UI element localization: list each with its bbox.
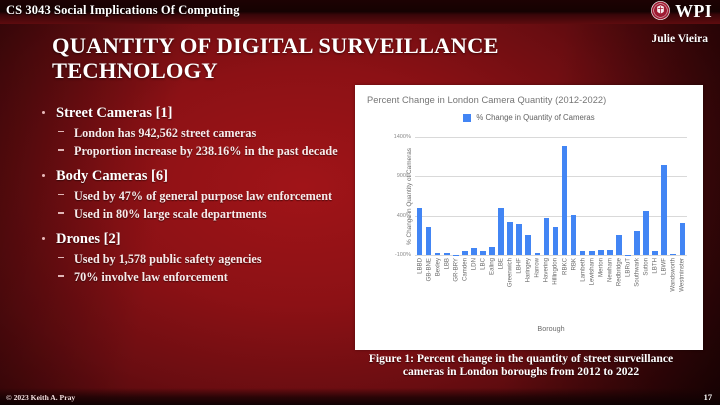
bar	[462, 251, 468, 255]
x-axis-tick-label: LDN	[470, 258, 477, 270]
bullet-section-heading: Body Cameras [6]	[36, 168, 356, 185]
x-axis-tick-label: RBK	[570, 258, 577, 271]
bar	[516, 224, 522, 255]
x-label-slot: Camden	[460, 257, 469, 323]
x-label-slot: RBKC	[560, 257, 569, 323]
chart-legend: % Change in Quantity of Cameras	[355, 113, 703, 122]
x-axis-tick-label: LBBD	[416, 258, 423, 274]
plot-area: -100%400%900%1400%	[415, 137, 687, 255]
y-axis-tick-label: 900%	[397, 173, 411, 179]
bullet-heading-text: Body Cameras [6]	[56, 168, 168, 184]
x-axis-tick-label: Lewisham	[588, 258, 595, 285]
x-axis-tick-labels: LBBDGB-BNEBexleyLBBGR-BRYCamdenLDNLBCEal…	[415, 257, 687, 323]
x-label-slot: GR-BRY	[451, 257, 460, 323]
bar	[444, 253, 450, 255]
page-number: 17	[704, 393, 712, 402]
bullet-dash-icon	[58, 194, 64, 196]
x-axis-tick-label: RBKC	[561, 258, 568, 275]
x-label-slot: LBTH	[651, 257, 660, 323]
x-axis-tick-label: Greenwich	[507, 258, 514, 287]
bar	[589, 251, 595, 255]
bar-slot	[424, 137, 433, 255]
bar-slot	[478, 137, 487, 255]
x-label-slot: Greenwich	[506, 257, 515, 323]
bar	[571, 215, 577, 255]
x-label-slot: Havering	[542, 257, 551, 323]
y-axis-tick-label: 400%	[397, 213, 411, 219]
bar-slot	[469, 137, 478, 255]
bar	[670, 254, 676, 255]
bar	[607, 250, 613, 255]
x-axis-tick-label: GB-BNE	[425, 258, 432, 281]
wpi-wordmark: WPI	[675, 2, 712, 20]
bar	[643, 211, 649, 255]
x-axis-tick-label: LBWF	[661, 258, 668, 275]
bar-slot	[660, 137, 669, 255]
bullet-sub-item: Used by 47% of general purpose law enfor…	[36, 190, 356, 204]
wpi-logo: WPI	[651, 1, 712, 20]
bullet-sub-text: Used in 80% large scale departments	[74, 207, 267, 221]
bar-slot	[623, 137, 632, 255]
y-axis-tick-label: 1400%	[394, 134, 411, 140]
bar	[480, 251, 486, 255]
bullet-sub-item: Used in 80% large scale departments	[36, 208, 356, 222]
x-axis-tick-label: Westminster	[679, 258, 686, 292]
x-label-slot: Bexley	[433, 257, 442, 323]
bullet-dash-icon	[58, 212, 64, 214]
bar-slot	[533, 137, 542, 255]
bullet-section-heading: Street Cameras [1]	[36, 105, 356, 122]
x-axis-tick-label: LBTH	[652, 258, 659, 274]
bar-slot	[633, 137, 642, 255]
bullet-section-heading: Drones [2]	[36, 231, 356, 248]
bullet-dot-icon	[42, 237, 45, 240]
x-axis-tick-label: Redbridge	[615, 258, 622, 286]
bullet-dash-icon	[58, 149, 64, 151]
x-axis-tick-label: Newham	[606, 258, 613, 282]
bar-slot	[451, 137, 460, 255]
x-axis-title: Borough	[415, 324, 687, 333]
bar-slot	[587, 137, 596, 255]
bullet-sub-item: Used by 1,578 public safety agencies	[36, 253, 356, 267]
x-axis-tick-label: Hillingdon	[552, 258, 559, 285]
bar-slot	[642, 137, 651, 255]
x-axis-tick-label: LBHF	[516, 258, 523, 274]
bar	[489, 247, 495, 255]
bullet-content: Street Cameras [1] London has 942,562 st…	[36, 105, 356, 285]
x-axis-tick-label: Bexley	[434, 258, 441, 276]
x-label-slot: Redbridge	[614, 257, 623, 323]
bar	[507, 222, 513, 255]
x-axis-tick-label: Southwark	[634, 258, 641, 287]
x-label-slot: LBE	[497, 257, 506, 323]
bar-slot	[506, 137, 515, 255]
x-axis-tick-label: GR-BRY	[452, 258, 459, 282]
x-axis-tick-label: Camden	[461, 258, 468, 281]
bar-series	[415, 137, 687, 255]
bar	[453, 255, 459, 256]
bar	[580, 251, 586, 255]
bar	[634, 231, 640, 255]
bullet-heading-text: Drones [2]	[56, 231, 121, 247]
bar	[652, 251, 658, 255]
bar-slot	[551, 137, 560, 255]
x-axis-tick-label: Lambeth	[579, 258, 586, 282]
course-title: CS 3043 Social Implications Of Computing	[6, 3, 240, 18]
bullet-heading-text: Street Cameras [1]	[56, 105, 173, 121]
slide-canvas: CS 3043 Social Implications Of Computing…	[0, 0, 720, 405]
bar-slot	[596, 137, 605, 255]
x-label-slot: LBWF	[660, 257, 669, 323]
x-label-slot: Westminster	[678, 257, 687, 323]
x-label-slot: LBHF	[515, 257, 524, 323]
bar	[616, 235, 622, 255]
bar-slot	[569, 137, 578, 255]
x-label-slot: Haringey	[524, 257, 533, 323]
copyright-text: © 2023 Keith A. Pray	[6, 393, 75, 402]
bar	[661, 165, 667, 255]
x-label-slot: GB-BNE	[424, 257, 433, 323]
x-label-slot: Merton	[596, 257, 605, 323]
bar	[625, 255, 631, 256]
x-axis-tick-label: Ealing	[489, 258, 496, 275]
bar	[471, 248, 477, 255]
bar-slot	[651, 137, 660, 255]
bar	[544, 218, 550, 255]
bullet-dash-icon	[58, 275, 64, 277]
bullet-dash-icon	[58, 257, 64, 259]
bar-slot	[442, 137, 451, 255]
bar-slot	[560, 137, 569, 255]
bullet-sub-text: Used by 47% of general purpose law enfor…	[74, 189, 332, 203]
bar	[426, 227, 432, 255]
chart-figure: Percent Change in London Camera Quantity…	[355, 85, 703, 350]
x-axis-tick-label: Haringey	[525, 258, 532, 282]
bullet-sub-text: London has 942,562 street cameras	[74, 126, 256, 140]
bar	[435, 253, 441, 255]
legend-swatch-icon	[463, 114, 471, 122]
x-axis-tick-label: Merton	[597, 258, 604, 277]
bullet-sub-text: Proportion increase by 238.16% in the pa…	[74, 144, 338, 158]
bar-slot	[578, 137, 587, 255]
bar-slot	[415, 137, 424, 255]
bullet-sub-item: 70% involve law enforcement	[36, 271, 356, 285]
bar	[562, 146, 568, 255]
bar	[598, 250, 604, 255]
x-axis-tick-label: LBC	[479, 258, 486, 270]
bar-slot	[542, 137, 551, 255]
bar-slot	[524, 137, 533, 255]
x-label-slot: Hillingdon	[551, 257, 560, 323]
bar-slot	[515, 137, 524, 255]
bar	[535, 253, 541, 255]
author-name: Julie Vieira	[651, 33, 708, 45]
bullet-dot-icon	[42, 174, 45, 177]
bar	[553, 227, 559, 255]
x-label-slot: Lewisham	[587, 257, 596, 323]
y-axis-tick-label: -100%	[395, 252, 411, 258]
x-label-slot: LBB	[442, 257, 451, 323]
bar-slot	[497, 137, 506, 255]
bar-slot	[614, 137, 623, 255]
chart-title: Percent Change in London Camera Quantity…	[367, 95, 606, 105]
bar-slot	[433, 137, 442, 255]
legend-label: % Change in Quantity of Cameras	[476, 113, 594, 122]
x-axis-tick-label: LBE	[498, 258, 505, 270]
bullet-sub-text: 70% involve law enforcement	[74, 270, 228, 284]
bullet-sub-item: Proportion increase by 238.16% in the pa…	[36, 145, 356, 159]
bar-slot	[488, 137, 497, 255]
bar-slot	[678, 137, 687, 255]
x-label-slot: Southwark	[633, 257, 642, 323]
x-label-slot: LBBD	[415, 257, 424, 323]
top-banner: CS 3043 Social Implications Of Computing	[0, 0, 720, 24]
wpi-seal-icon	[651, 1, 670, 20]
footer-bar	[0, 388, 720, 405]
bullet-sub-text: Used by 1,578 public safety agencies	[74, 252, 262, 266]
x-label-slot: Harrow	[533, 257, 542, 323]
bullet-dot-icon	[42, 111, 45, 114]
page-title: QUANTITY OF DIGITAL SURVEILLANCE TECHNOL…	[52, 34, 612, 84]
x-axis-tick-label: LBB	[443, 258, 450, 270]
bar-slot	[669, 137, 678, 255]
x-axis-tick-label: Harrow	[534, 258, 541, 278]
x-label-slot: RBK	[569, 257, 578, 323]
bar-slot	[460, 137, 469, 255]
x-axis-tick-label: Sutton	[643, 258, 650, 276]
x-label-slot: Ealing	[488, 257, 497, 323]
bullet-dash-icon	[58, 131, 64, 133]
x-label-slot: Newham	[605, 257, 614, 323]
x-axis-tick-label: Havering	[543, 258, 550, 282]
x-label-slot: LBRuT	[623, 257, 632, 323]
bar-slot	[605, 137, 614, 255]
bullet-sub-item: London has 942,562 street cameras	[36, 127, 356, 141]
y-axis-title-text: % Change in Quantity of Cameras	[406, 148, 413, 245]
bar	[417, 208, 423, 255]
x-label-slot: Wandsworth	[669, 257, 678, 323]
bar	[498, 208, 504, 255]
x-axis-tick-label: Wandsworth	[670, 258, 677, 292]
x-label-slot: LBC	[478, 257, 487, 323]
x-label-slot: LDN	[469, 257, 478, 323]
bar	[525, 235, 531, 255]
figure-caption: Figure 1: Percent change in the quantity…	[356, 352, 686, 378]
x-label-slot: Sutton	[642, 257, 651, 323]
x-label-slot: Lambeth	[578, 257, 587, 323]
bar	[680, 223, 686, 255]
x-axis-tick-label: LBRuT	[624, 258, 631, 277]
